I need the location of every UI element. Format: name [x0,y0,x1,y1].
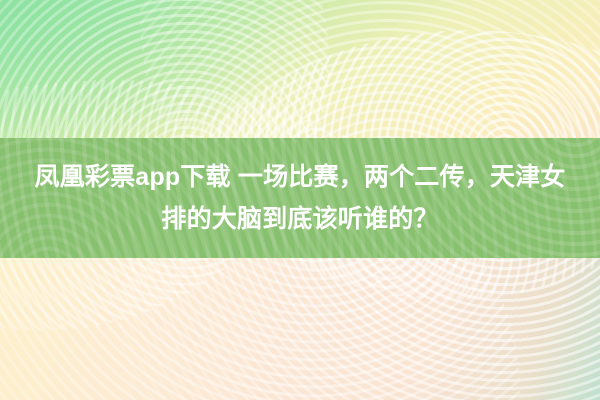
promo-banner: 凤凰彩票app下载 一场比赛，两个二传，天津女 排的大脑到底该听谁的？ [0,0,600,400]
banner-headline-line-1: 凤凰彩票app下载 一场比赛，两个二传，天津女 [22,156,578,198]
headline-band: 凤凰彩票app下载 一场比赛，两个二传，天津女 排的大脑到底该听谁的？ [0,138,600,258]
banner-headline-line-2: 排的大脑到底该听谁的？ [22,198,578,240]
banner-headline: 凤凰彩票app下载 一场比赛，两个二传，天津女 排的大脑到底该听谁的？ [22,156,578,240]
background-lower-wash [0,255,600,400]
